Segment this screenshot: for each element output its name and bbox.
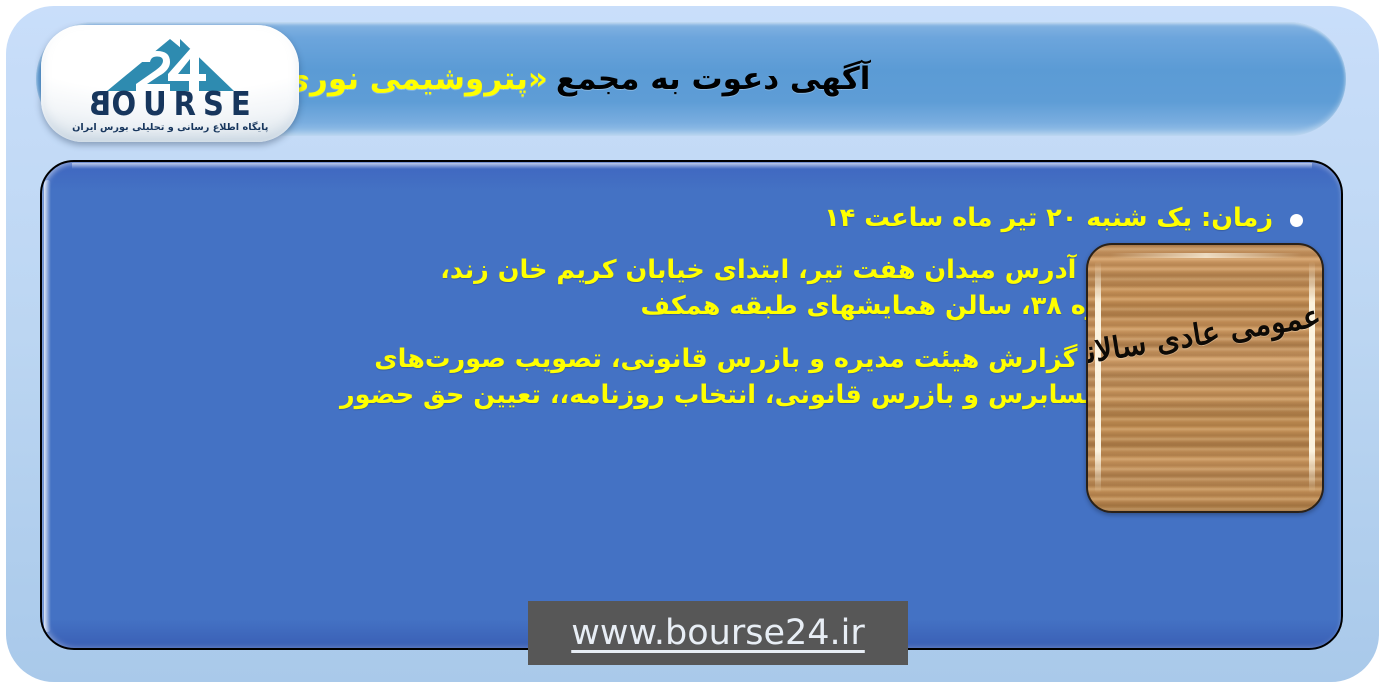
logo-wordmark: BBOURSEOURSE (82, 88, 257, 120)
logo-inner: BBOURSEOURSE پایگاه اطلاع رسانی و تحلیلی… (41, 25, 299, 142)
panel-highlight-top (72, 163, 1312, 169)
plaque-label: عمومی عادی سالانه (1087, 299, 1324, 370)
list-item: زمان: یک شنبه ۲۰ تیر ماه ساعت ۱۴ (326, 200, 1311, 236)
website-url[interactable]: www.bourse24.ir (571, 613, 865, 653)
footer-watermark: www.bourse24.ir (528, 601, 908, 665)
wooden-plaque: عمومی عادی سالانه (1086, 243, 1324, 513)
plaque-highlight-left (1095, 261, 1101, 493)
banner-root: آگهی دعوت به مجمع «پتروشیمی نوری» BBOURS… (0, 0, 1385, 688)
page-title-main: آگهی دعوت به مجمع (556, 61, 870, 97)
logo-badge[interactable]: BBOURSEOURSE پایگاه اطلاع رسانی و تحلیلی… (41, 25, 299, 142)
page-title-company: «پتروشیمی نوری» (262, 61, 548, 97)
logo-tagline: پایگاه اطلاع رسانی و تحلیلی بورس ایران (72, 122, 268, 133)
plaque-highlight-right (1309, 261, 1315, 493)
panel-highlight-left (44, 180, 51, 632)
plaque-highlight-top (1110, 253, 1302, 258)
